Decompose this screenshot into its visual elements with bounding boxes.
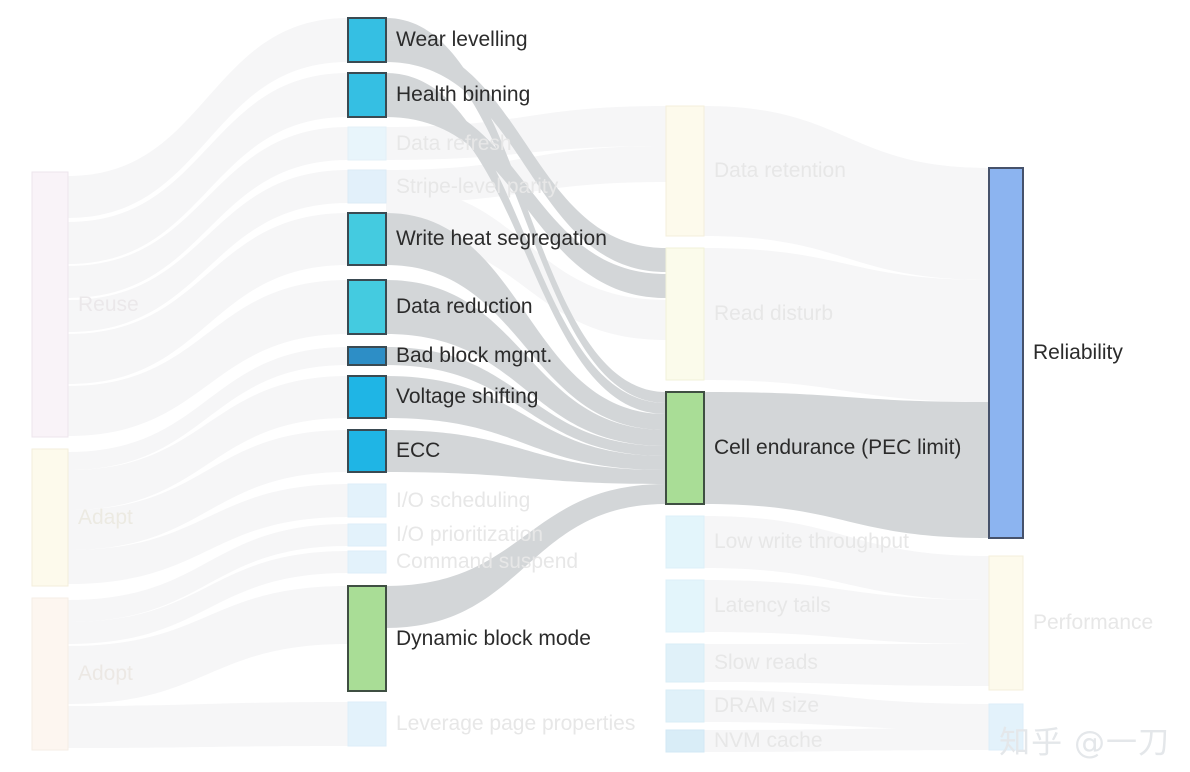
node-label-leverage-page-properties: Leverage page properties [396, 713, 635, 734]
node-label-dram-size: DRAM size [714, 695, 819, 716]
sankey-node-nvm-cache[interactable] [666, 730, 704, 752]
sankey-node-leverage-page-properties[interactable] [348, 702, 386, 746]
sankey-canvas [0, 0, 1190, 772]
node-label-voltage-shifting: Voltage shifting [396, 386, 538, 407]
sankey-node-dynamic-block-mode[interactable] [348, 586, 386, 691]
sankey-node-performance[interactable] [989, 556, 1023, 690]
node-label-latency-tails: Latency tails [714, 595, 831, 616]
sankey-diagram: ReuseAdaptAdoptWear levellingHealth binn… [0, 0, 1190, 772]
sankey-node-adapt[interactable] [32, 449, 68, 586]
node-label-io-scheduling: I/O scheduling [396, 490, 530, 511]
sankey-node-command-suspend[interactable] [348, 551, 386, 573]
sankey-node-adopt[interactable] [32, 598, 68, 750]
node-label-dynamic-block-mode: Dynamic block mode [396, 628, 591, 649]
sankey-node-stripe-level-parity[interactable] [348, 170, 386, 203]
sankey-node-reuse[interactable] [32, 172, 68, 437]
sankey-node-write-heat-segregation[interactable] [348, 213, 386, 265]
sankey-node-read-disturb[interactable] [666, 248, 704, 380]
node-label-read-disturb: Read disturb [714, 303, 833, 324]
sankey-node-data-reduction[interactable] [348, 280, 386, 334]
sankey-node-io-prioritization[interactable] [348, 524, 386, 546]
sankey-node-io-scheduling[interactable] [348, 484, 386, 517]
node-label-reliability: Reliability [1033, 342, 1123, 363]
sankey-node-ecc[interactable] [348, 430, 386, 472]
node-label-bad-block-mgmt: Bad block mgmt. [396, 345, 552, 366]
sankey-node-slow-reads[interactable] [666, 644, 704, 682]
sankey-node-health-binning[interactable] [348, 73, 386, 117]
node-label-data-retention: Data retention [714, 160, 846, 181]
node-label-health-binning: Health binning [396, 84, 530, 105]
sankey-link [68, 702, 348, 748]
sankey-node-bad-block-mgmt[interactable] [348, 347, 386, 365]
node-label-reuse: Reuse [78, 294, 139, 315]
node-label-adopt: Adopt [78, 663, 133, 684]
sankey-node-data-retention[interactable] [666, 106, 704, 236]
node-label-performance: Performance [1033, 612, 1153, 633]
sankey-node-reliability[interactable] [989, 168, 1023, 538]
node-label-slow-reads: Slow reads [714, 652, 818, 673]
node-label-cell-endurance: Cell endurance (PEC limit) [714, 437, 961, 458]
node-label-write-heat-segregation: Write heat segregation [396, 228, 607, 249]
node-label-low-write-throughput: Low write throughput [714, 531, 909, 552]
node-label-stripe-level-parity: Stripe-level parity [396, 176, 558, 197]
sankey-node-wear-levelling[interactable] [348, 18, 386, 62]
sankey-node-latency-tails[interactable] [666, 580, 704, 632]
node-label-wear-levelling: Wear levelling [396, 29, 528, 50]
node-label-adapt: Adapt [78, 507, 133, 528]
node-label-ecc: ECC [396, 440, 440, 461]
sankey-node-data-refresh[interactable] [348, 127, 386, 160]
node-label-data-reduction: Data reduction [396, 296, 533, 317]
sankey-link [704, 392, 989, 538]
sankey-node-dram-size[interactable] [666, 690, 704, 722]
sankey-node-low-write-throughput[interactable] [666, 516, 704, 568]
node-label-data-refresh: Data refresh [396, 133, 512, 154]
watermark: 知乎 @一刀 [999, 717, 1170, 762]
sankey-node-voltage-shifting[interactable] [348, 376, 386, 418]
node-label-command-suspend: Command suspend [396, 551, 578, 572]
node-label-nvm-cache: NVM cache [714, 730, 823, 751]
sankey-node-cell-endurance[interactable] [666, 392, 704, 504]
node-label-io-prioritization: I/O prioritization [396, 524, 543, 545]
